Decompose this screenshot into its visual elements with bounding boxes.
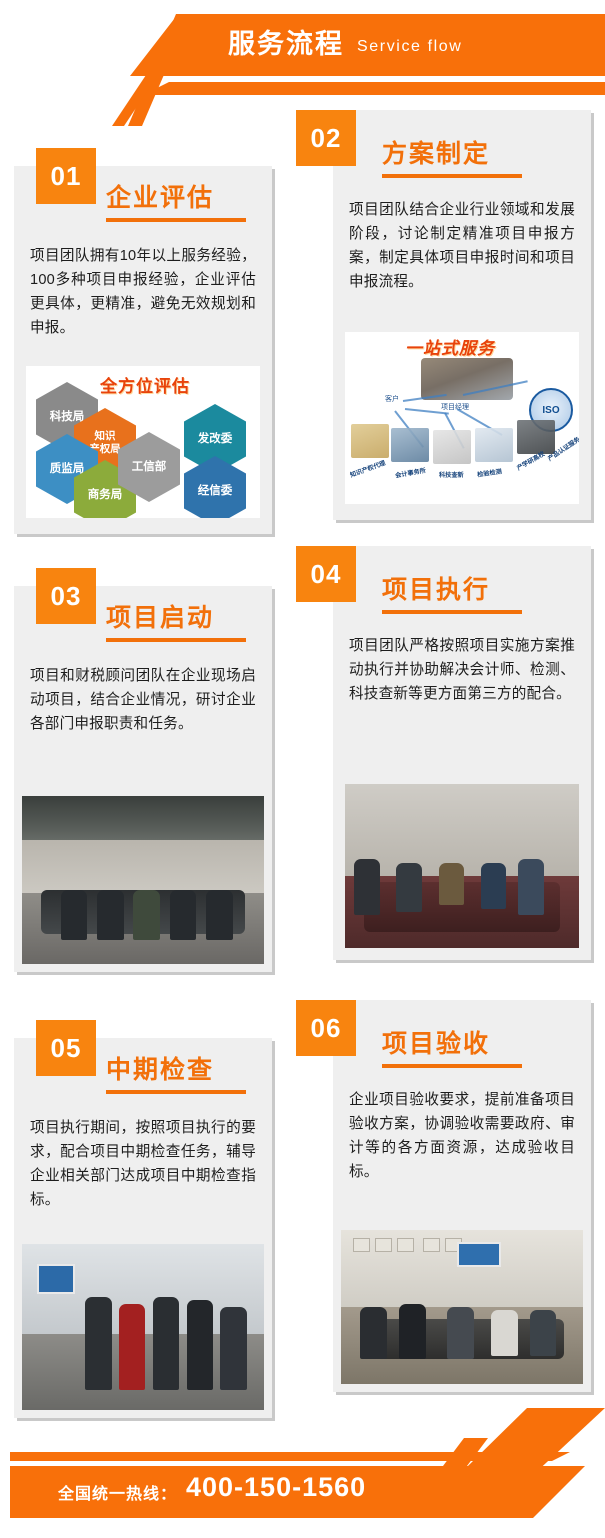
page-title: 服务流程 [228, 24, 344, 64]
title-underline [382, 174, 522, 178]
step-card-05[interactable]: 05 中期检查 项目执行期间，按照项目执行的要求，配合项目中期检查任务，辅导企业… [14, 1038, 272, 1418]
step-title: 企业评估 [106, 178, 214, 214]
meeting-photo [22, 796, 264, 964]
step-number-badge: 01 [36, 148, 96, 204]
hotline-label: 全国统一热线： [58, 1480, 177, 1504]
step-title: 项目验收 [382, 1024, 490, 1060]
meeting-photo [345, 784, 579, 948]
step-number-badge: 02 [296, 110, 356, 166]
step-description: 项目团队结合企业行业领域和发展阶段，讨论制定精准项目申报方案，制定具体项目申报时… [349, 198, 575, 294]
step-number-badge: 05 [36, 1020, 96, 1076]
step-card-02[interactable]: 02 方案制定 项目团队结合企业行业领域和发展阶段，讨论制定精准项目申报方案，制… [333, 110, 591, 520]
step-description: 项目执行期间，按照项目执行的要求，配合项目中期检查任务，辅导企业相关部门达成项目… [30, 1116, 256, 1212]
step-card-04[interactable]: 04 项目执行 项目团队严格按照项目实施方案推动执行并协助解决会计师、检测、科技… [333, 546, 591, 960]
title-underline [382, 1064, 522, 1068]
client-label: 客户 [385, 394, 399, 404]
hexagon-cluster-title: 全方位评估 [100, 372, 190, 397]
step-card-03[interactable]: 03 项目启动 项目和财税顾问团队在企业现场启动项目，结合企业情况，研讨企业各部… [14, 586, 272, 972]
title-underline [106, 638, 246, 642]
page-subtitle: Service flow [357, 35, 462, 59]
title-underline [106, 218, 246, 222]
hex-node-jingxin: 经信委 [184, 456, 246, 518]
service-node-accounting [391, 428, 429, 462]
step-title: 项目执行 [382, 570, 490, 606]
title-underline [382, 610, 522, 614]
infographic-page: 服务流程 Service flow 01 企业评估 项目团队拥有10年以上服务经… [0, 0, 605, 1538]
step-description: 项目团队拥有10年以上服务经验，100多种项目申报经验，企业评估更具体，更精准，… [30, 244, 256, 340]
page-header: 服务流程 Service flow [0, 0, 605, 126]
step-card-01[interactable]: 01 企业评估 项目团队拥有10年以上服务经验，100多种项目申报经验，企业评估… [14, 166, 272, 534]
step-description: 项目团队严格按照项目实施方案推动执行并协助解决会计师、检测、科技查新等更方面第三… [349, 634, 575, 706]
service-node-university [517, 420, 555, 454]
step-card-06[interactable]: 06 项目验收 企业项目验收要求，提前准备项目验收方案，协调验收需要政府、审计等… [333, 1000, 591, 1392]
step-description: 企业项目验收要求，提前准备项目验收方案，协调验收需要政府、审计等的各方面资源，达… [349, 1088, 575, 1184]
acceptance-meeting-photo [341, 1230, 583, 1384]
step-number-badge: 04 [296, 546, 356, 602]
step-title: 中期检查 [106, 1050, 214, 1086]
footer-accent-bar [10, 1452, 570, 1461]
step-number-badge: 06 [296, 1000, 356, 1056]
service-label: 会计事务所 [394, 465, 426, 479]
one-stop-service-title: 一站式服务 [405, 334, 495, 359]
one-stop-service-graphic: 一站式服务 客户 项目经理 ISO 知识产权代理 会计事务所 科技查新 [345, 332, 579, 504]
service-label: 科技查新 [439, 470, 464, 479]
hotline-number[interactable]: 400-150-1560 [186, 1472, 366, 1503]
service-label: 检验检测 [476, 466, 502, 478]
hexagon-cluster-graphic: 全方位评估 科技局 知识产权局 质监局 商务局 工信部 发改委 经信委 [26, 366, 260, 518]
hub-label: 项目经理 [441, 402, 469, 412]
step-title: 项目启动 [106, 598, 214, 634]
step-title: 方案制定 [382, 134, 490, 170]
title-underline [106, 1090, 246, 1094]
service-node-ip [351, 424, 389, 458]
service-label: 知识产权代理 [349, 458, 387, 479]
site-visit-photo [22, 1244, 264, 1410]
step-number-badge: 03 [36, 568, 96, 624]
step-description: 项目和财税顾问团队在企业现场启动项目，结合企业情况，研讨企业各部门申报职责和任务… [30, 664, 256, 736]
header-accent-bar [143, 82, 605, 95]
service-node-testing [475, 428, 513, 462]
service-node-novelty [433, 430, 471, 464]
page-footer: 全国统一热线： 400-150-1560 [0, 1408, 605, 1538]
